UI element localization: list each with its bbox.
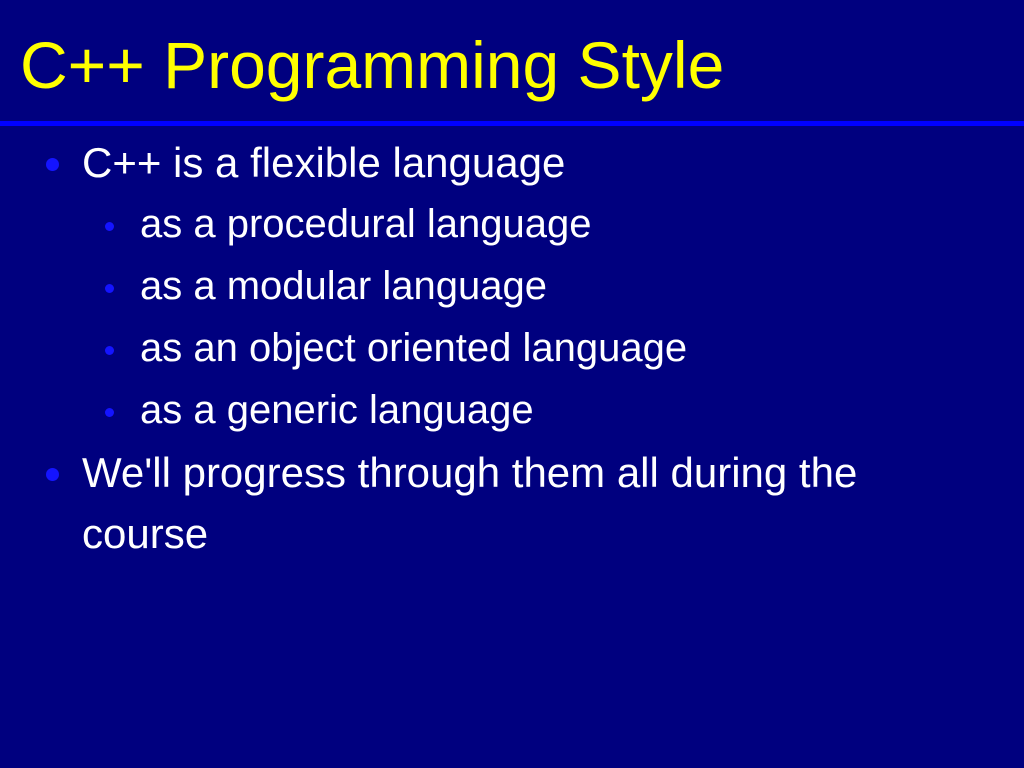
bullet-dot-icon	[105, 346, 114, 355]
list-item-label: as a procedural language	[140, 194, 1024, 255]
list-item-label: We'll progress through them all during t…	[82, 442, 962, 564]
bullet-dot-icon	[46, 158, 59, 171]
slide-body: C++ is a flexible language as a procedur…	[0, 132, 1024, 564]
title-divider-rule	[0, 121, 1024, 126]
list-item: as a modular language	[0, 256, 1024, 318]
bullet-dot-icon	[105, 284, 114, 293]
list-item-label: as a modular language	[140, 256, 1024, 317]
list-item: C++ is a flexible language	[0, 132, 1024, 194]
list-item-label: as an object oriented language	[140, 318, 1024, 379]
list-item: as an object oriented language	[0, 318, 1024, 380]
list-item-label: C++ is a flexible language	[82, 132, 1024, 193]
bullet-dot-icon	[105, 222, 114, 231]
list-item: as a generic language	[0, 380, 1024, 442]
bullet-dot-icon	[105, 408, 114, 417]
bullet-dot-icon	[46, 468, 59, 481]
list-item-label: as a generic language	[140, 380, 1024, 441]
slide-title-area: C++ Programming Style	[0, 0, 1024, 122]
presentation-slide: C++ Programming Style C++ is a flexible …	[0, 0, 1024, 768]
list-item: as a procedural language	[0, 194, 1024, 256]
list-item: We'll progress through them all during t…	[0, 442, 1024, 564]
page-title: C++ Programming Style	[20, 28, 724, 102]
